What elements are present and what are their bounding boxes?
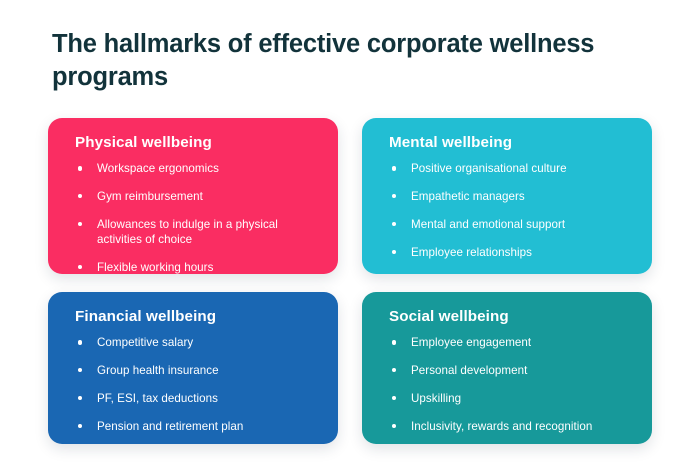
list-item: Inclusivity, rewards and recognition	[389, 419, 634, 434]
list-item-label: Flexible working hours	[97, 261, 213, 274]
bullet-dot-icon	[392, 194, 396, 198]
list-item: Employee relationships	[389, 245, 634, 260]
card-title: Physical wellbeing	[75, 134, 320, 152]
bullet-dot-icon	[392, 424, 396, 428]
list-item-label: Allowances to indulge in a physical acti…	[97, 218, 278, 246]
list-item-label: Group health insurance	[97, 364, 219, 377]
card-list: Employee engagement Personal development…	[389, 335, 634, 434]
bullet-dot-icon	[78, 222, 82, 226]
bullet-dot-icon	[392, 396, 396, 400]
bullet-dot-icon	[392, 222, 396, 226]
list-item: Allowances to indulge in a physical acti…	[75, 217, 320, 248]
card-title: Social wellbeing	[389, 308, 634, 326]
list-item: Flexible working hours	[75, 260, 320, 274]
list-item: Pension and retirement plan	[75, 419, 320, 434]
bullet-dot-icon	[392, 368, 396, 372]
card-list: Competitive salary Group health insuranc…	[75, 335, 320, 434]
list-item-label: Inclusivity, rewards and recognition	[411, 420, 592, 433]
card-mental-wellbeing: Mental wellbeing Positive organisational…	[362, 118, 652, 274]
list-item: Empathetic managers	[389, 189, 634, 204]
list-item-label: Pension and retirement plan	[97, 420, 243, 433]
bullet-dot-icon	[78, 424, 82, 428]
card-list: Workspace ergonomics Gym reimbursement A…	[75, 161, 320, 274]
bullet-dot-icon	[78, 265, 82, 269]
list-item-label: Competitive salary	[97, 336, 193, 349]
list-item: Mental and emotional support	[389, 217, 634, 232]
list-item: Group health insurance	[75, 363, 320, 378]
bullet-dot-icon	[392, 340, 396, 344]
infographic-root: The hallmarks of effective corporate wel…	[0, 0, 700, 468]
bullet-dot-icon	[78, 396, 82, 400]
list-item-label: Gym reimbursement	[97, 190, 203, 203]
card-financial-wellbeing: Financial wellbeing Competitive salary G…	[48, 292, 338, 444]
bullet-dot-icon	[392, 166, 396, 170]
card-social-wellbeing: Social wellbeing Employee engagement Per…	[362, 292, 652, 444]
list-item: Personal development	[389, 363, 634, 378]
list-item: Upskilling	[389, 391, 634, 406]
bullet-dot-icon	[78, 166, 82, 170]
list-item-label: PF, ESI, tax deductions	[97, 392, 218, 405]
list-item: Gym reimbursement	[75, 189, 320, 204]
card-list: Positive organisational culture Empathet…	[389, 161, 634, 260]
card-title: Financial wellbeing	[75, 308, 320, 326]
card-title: Mental wellbeing	[389, 134, 634, 152]
bullet-dot-icon	[78, 340, 82, 344]
list-item: Competitive salary	[75, 335, 320, 350]
list-item-label: Upskilling	[411, 392, 461, 405]
list-item-label: Workspace ergonomics	[97, 162, 219, 175]
list-item: Positive organisational culture	[389, 161, 634, 176]
list-item-label: Personal development	[411, 364, 527, 377]
list-item: PF, ESI, tax deductions	[75, 391, 320, 406]
bullet-dot-icon	[78, 368, 82, 372]
list-item-label: Employee engagement	[411, 336, 531, 349]
list-item-label: Employee relationships	[411, 246, 532, 259]
list-item: Employee engagement	[389, 335, 634, 350]
list-item-label: Mental and emotional support	[411, 218, 565, 231]
card-physical-wellbeing: Physical wellbeing Workspace ergonomics …	[48, 118, 338, 274]
list-item-label: Positive organisational culture	[411, 162, 567, 175]
list-item-label: Empathetic managers	[411, 190, 525, 203]
bullet-dot-icon	[392, 250, 396, 254]
bullet-dot-icon	[78, 194, 82, 198]
list-item: Workspace ergonomics	[75, 161, 320, 176]
page-title: The hallmarks of effective corporate wel…	[52, 28, 612, 93]
wellbeing-card-grid: Physical wellbeing Workspace ergonomics …	[48, 118, 652, 444]
